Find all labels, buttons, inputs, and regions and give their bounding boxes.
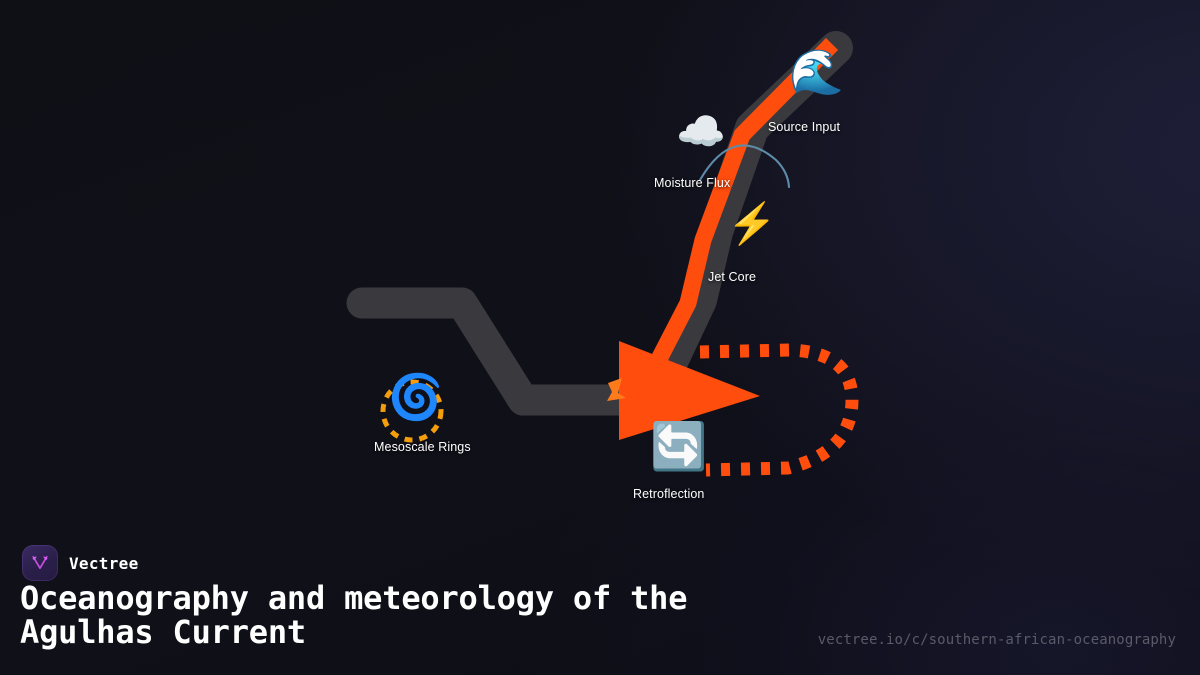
infographic-canvas: 🌊 ☁️ ⚡ 🌀 🔄 Source Input Moisture Flux Je… [0, 0, 1200, 675]
node-label-moisture-flux: Moisture Flux [654, 177, 730, 191]
node-label-source-input: Source Input [768, 121, 840, 135]
page-title: Oceanography and meteorology of the Agul… [20, 582, 820, 650]
cloud-emoji: ☁️ [676, 112, 726, 152]
counterclockwise-arrows-emoji: 🔄 [650, 423, 707, 469]
node-label-mesoscale-rings: Mesoscale Rings [374, 441, 471, 455]
footer-bar: Vectree Oceanography and meteorology of … [0, 520, 1200, 675]
lightning-bolt-emoji: ⚡ [727, 204, 777, 244]
node-label-retroflection: Retroflection [633, 488, 704, 502]
dashed-retroflection-loop [700, 350, 852, 470]
wave-emoji: 🌊 [789, 51, 844, 95]
brand-name: Vectree [69, 554, 139, 573]
brand-row: Vectree [22, 545, 139, 581]
vectree-v-logo-icon [22, 545, 58, 581]
site-url: vectree.io/c/southern-african-oceanograp… [818, 632, 1176, 648]
node-label-jet-core: Jet Core [708, 271, 756, 285]
cyclone-spiral-emoji: 🌀 [388, 376, 443, 420]
